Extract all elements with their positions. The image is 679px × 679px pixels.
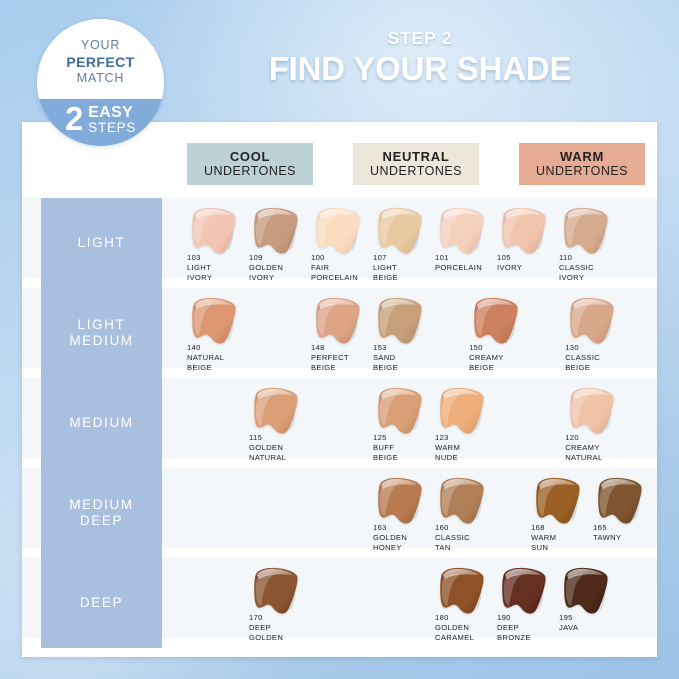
swatch-shape	[435, 566, 489, 619]
shade-label: 103 LIGHT IVORY	[187, 253, 212, 283]
foundation-smear-icon	[187, 296, 241, 349]
swatch-shape	[565, 296, 619, 349]
shade-swatch[interactable]: 101 PORCELAIN	[435, 206, 497, 286]
swatch-shape	[435, 476, 489, 529]
swatch-shape	[531, 476, 585, 529]
shade-label: 190 DEEP BRONZE	[497, 613, 531, 643]
row-swatches: 170 DEEP GOLDEN 180 GOLDEN CARAMEL	[167, 558, 657, 648]
badge-bottom-half: 2 EASY STEPS	[37, 99, 164, 146]
swatch-shape	[435, 206, 489, 259]
row-label-text: LIGHT	[78, 235, 126, 251]
badge-word-easy: EASY	[88, 105, 136, 121]
shade-row: LIGHT MEDIUM 140 NATURAL BEIGE	[22, 288, 657, 368]
shade-swatch[interactable]: 100 FAIR PORCELAIN	[311, 206, 373, 286]
row-label-deep: DEEP	[41, 558, 162, 648]
shade-swatch[interactable]: 153 SAND BEIGE	[373, 296, 435, 376]
shade-swatch[interactable]: 163 GOLDEN HONEY	[373, 476, 435, 556]
shade-label: 170 DEEP GOLDEN	[249, 613, 283, 643]
shade-row: DEEP 170 DEEP GOLDEN	[22, 558, 657, 638]
shade-label: 180 GOLDEN CARAMEL	[435, 613, 474, 643]
undertone-sublabel: UNDERTONES	[370, 164, 462, 179]
foundation-smear-icon	[249, 386, 303, 439]
foundation-smear-icon	[187, 206, 241, 259]
shade-swatch[interactable]: 165 TAWNY	[593, 476, 655, 556]
shade-label: 125 BUFF BEIGE	[373, 433, 398, 463]
shade-swatch[interactable]: 123 WARM NUDE	[435, 386, 497, 466]
shade-swatch[interactable]: 170 DEEP GOLDEN	[249, 566, 311, 646]
shade-label: 101 PORCELAIN	[435, 253, 482, 273]
foundation-smear-icon	[565, 296, 619, 349]
swatch-shape	[311, 296, 365, 349]
shade-label: 165 TAWNY	[593, 523, 621, 543]
shade-swatch[interactable]: 110 CLASSIC IVORY	[559, 206, 621, 286]
shade-label: 109 GOLDEN IVORY	[249, 253, 283, 283]
swatch-shape	[249, 206, 303, 259]
foundation-smear-icon	[249, 566, 303, 619]
foundation-smear-icon	[531, 476, 585, 529]
foundation-smear-icon	[373, 206, 427, 259]
badge-top-half: YOUR PERFECT MATCH	[37, 19, 164, 99]
undertone-sublabel: UNDERTONES	[204, 164, 296, 179]
undertone-sublabel: UNDERTONES	[536, 164, 628, 179]
swatch-shape	[187, 296, 241, 349]
shade-label: 163 GOLDEN HONEY	[373, 523, 407, 553]
swatch-shape	[469, 296, 523, 349]
undertone-header-neutral: NEUTRALUNDERTONES	[353, 143, 479, 185]
badge-step-count: 2	[65, 104, 83, 134]
perfect-match-badge: YOUR PERFECT MATCH 2 EASY STEPS	[37, 19, 164, 146]
row-label-medium-deep: MEDIUM DEEP	[41, 468, 162, 558]
undertone-header-row: COOLUNDERTONESNEUTRALUNDERTONESWARMUNDER…	[165, 143, 645, 185]
row-label-light: LIGHT	[41, 198, 162, 288]
shade-swatch[interactable]: 150 CREAMY BEIGE	[469, 296, 531, 376]
badge-line-your: YOUR	[81, 38, 120, 54]
shade-label: 150 CREAMY BEIGE	[469, 343, 504, 373]
foundation-smear-icon	[593, 476, 647, 529]
foundation-smear-icon	[311, 206, 365, 259]
shade-swatch[interactable]: 120 CREAMY NATURAL	[565, 386, 627, 466]
swatch-shape	[373, 386, 427, 439]
shade-swatch[interactable]: 105 IVORY	[497, 206, 559, 286]
shade-label: 168 WARM SUN	[531, 523, 556, 553]
header-step-label: STEP 2	[190, 28, 650, 49]
shade-label: 160 CLASSIC TAN	[435, 523, 470, 553]
badge-word-steps: STEPS	[88, 121, 136, 135]
shade-label: 130 CLASSIC BEIGE	[565, 343, 600, 373]
shade-row: MEDIUM DEEP 163 GOLDEN HONEY	[22, 468, 657, 548]
foundation-smear-icon	[435, 476, 489, 529]
swatch-shape	[249, 386, 303, 439]
row-swatches: 103 LIGHT IVORY 109 GOLDEN IVORY	[167, 198, 657, 288]
swatch-shape	[559, 566, 613, 619]
row-label-text: MEDIUM DEEP	[69, 497, 133, 529]
shade-swatch[interactable]: 180 GOLDEN CARAMEL	[435, 566, 497, 646]
shade-swatch[interactable]: 107 LIGHT BEIGE	[373, 206, 435, 286]
shade-chart-panel: COOLUNDERTONESNEUTRALUNDERTONESWARMUNDER…	[22, 122, 657, 657]
page-title: FIND YOUR SHADE	[190, 50, 650, 88]
swatch-shape	[311, 206, 365, 259]
badge-line-match: MATCH	[77, 71, 125, 87]
foundation-smear-icon	[565, 386, 619, 439]
shade-swatch[interactable]: 195 JAVA	[559, 566, 621, 646]
swatch-shape	[435, 386, 489, 439]
row-label-text: MEDIUM	[69, 415, 133, 431]
foundation-smear-icon	[373, 476, 427, 529]
undertone-name: WARM	[560, 149, 604, 164]
shade-swatch[interactable]: 168 WARM SUN	[531, 476, 593, 556]
shade-swatch[interactable]: 190 DEEP BRONZE	[497, 566, 559, 646]
shade-label: 120 CREAMY NATURAL	[565, 433, 602, 463]
foundation-smear-icon	[311, 296, 365, 349]
row-swatches: 163 GOLDEN HONEY 160 CLASSIC TAN	[167, 468, 657, 558]
foundation-smear-icon	[373, 386, 427, 439]
foundation-smear-icon	[469, 296, 523, 349]
foundation-smear-icon	[497, 206, 551, 259]
shade-swatch[interactable]: 109 GOLDEN IVORY	[249, 206, 311, 286]
row-swatches: 115 GOLDEN NATURAL 125 BUFF BEIGE	[167, 378, 657, 468]
shade-swatch[interactable]: 160 CLASSIC TAN	[435, 476, 497, 556]
badge-line-perfect: PERFECT	[66, 54, 134, 72]
undertone-name: NEUTRAL	[382, 149, 449, 164]
foundation-smear-icon	[373, 296, 427, 349]
foundation-smear-icon	[559, 566, 613, 619]
shade-label: 110 CLASSIC IVORY	[559, 253, 594, 283]
shade-finder-graphic: YOUR PERFECT MATCH 2 EASY STEPS STEP 2 F…	[0, 0, 679, 679]
shade-swatch[interactable]: 140 NATURAL BEIGE	[187, 296, 249, 376]
swatch-shape	[593, 476, 647, 529]
shade-swatch[interactable]: 115 GOLDEN NATURAL	[249, 386, 311, 466]
swatch-shape	[187, 206, 241, 259]
swatch-shape	[373, 206, 427, 259]
shade-swatch[interactable]: 130 CLASSIC BEIGE	[565, 296, 627, 376]
shade-label: 123 WARM NUDE	[435, 433, 460, 463]
swatch-shape	[373, 476, 427, 529]
shade-label: 105 IVORY	[497, 253, 522, 273]
shade-label: 115 GOLDEN NATURAL	[249, 433, 286, 463]
shade-row: LIGHT 103 LIGHT IVORY	[22, 198, 657, 278]
swatch-shape	[373, 296, 427, 349]
shade-swatch[interactable]: 148 PERFECT BEIGE	[311, 296, 373, 376]
shade-row: MEDIUM 115 GOLDEN NATURAL	[22, 378, 657, 458]
shade-swatch[interactable]: 125 BUFF BEIGE	[373, 386, 435, 466]
foundation-smear-icon	[435, 206, 489, 259]
undertone-header-warm: WARMUNDERTONES	[519, 143, 645, 185]
swatch-shape	[497, 566, 551, 619]
swatch-shape	[565, 386, 619, 439]
undertone-name: COOL	[230, 149, 270, 164]
shade-label: 195 JAVA	[559, 613, 578, 633]
shade-label: 107 LIGHT BEIGE	[373, 253, 398, 283]
shade-label: 148 PERFECT BEIGE	[311, 343, 349, 373]
header: STEP 2 FIND YOUR SHADE	[190, 28, 650, 88]
row-label-text: DEEP	[80, 595, 123, 611]
foundation-smear-icon	[435, 566, 489, 619]
row-swatches: 140 NATURAL BEIGE 148 PERFECT BEIGE	[167, 288, 657, 378]
swatch-shape	[559, 206, 613, 259]
badge-steps-group: EASY STEPS	[88, 105, 136, 135]
undertone-header-cool: COOLUNDERTONES	[187, 143, 313, 185]
foundation-smear-icon	[249, 206, 303, 259]
swatch-shape	[249, 566, 303, 619]
shade-label: 153 SAND BEIGE	[373, 343, 398, 373]
swatch-shape	[497, 206, 551, 259]
foundation-smear-icon	[435, 386, 489, 439]
shade-label: 100 FAIR PORCELAIN	[311, 253, 358, 283]
row-label-text: LIGHT MEDIUM	[69, 317, 133, 349]
shade-label: 140 NATURAL BEIGE	[187, 343, 224, 373]
foundation-smear-icon	[559, 206, 613, 259]
row-label-light-medium: LIGHT MEDIUM	[41, 288, 162, 378]
shade-swatch[interactable]: 103 LIGHT IVORY	[187, 206, 249, 286]
foundation-smear-icon	[497, 566, 551, 619]
row-label-medium: MEDIUM	[41, 378, 162, 468]
